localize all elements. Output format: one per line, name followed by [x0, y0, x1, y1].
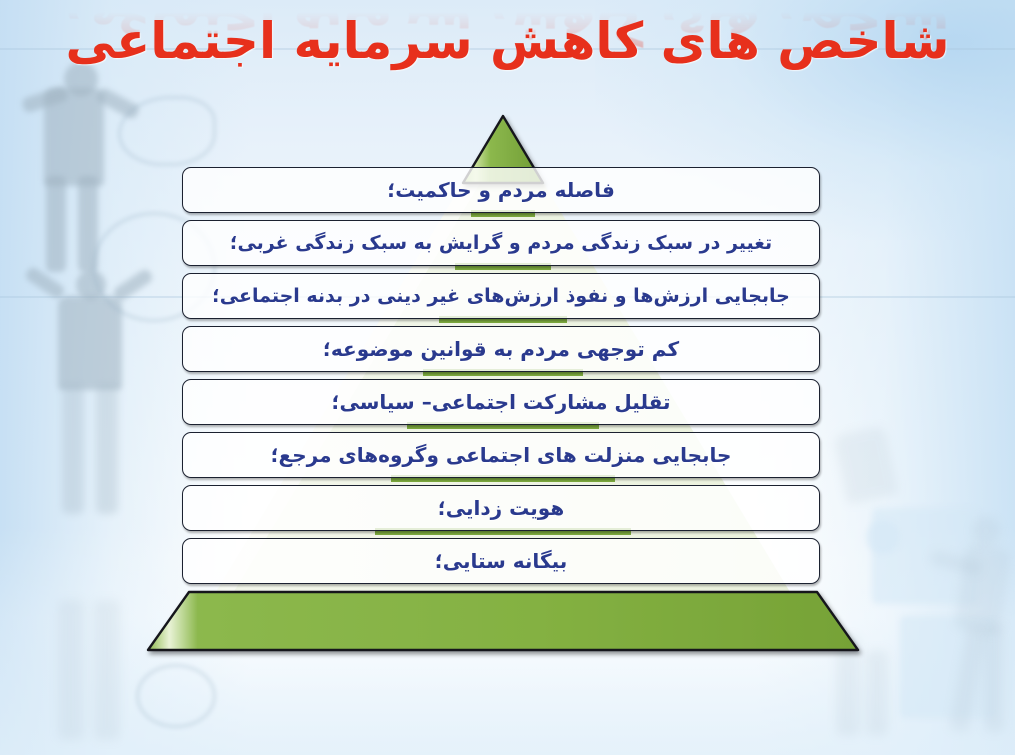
pyramid-base [148, 592, 858, 650]
pyramid-level-row[interactable]: تغییر در سبک زندگی مردم و گرایش به سبک ز… [182, 220, 820, 266]
pyramid-level-label: بیگانه ستایی؛ [425, 549, 578, 573]
pyramid-level-label: تقلیل مشارکت اجتماعی– سیاسی؛ [321, 390, 680, 414]
pyramid-level-row[interactable]: جابجایی منزلت های اجتماعی وگروه‌های مرجع… [182, 432, 820, 478]
pyramid-level-row[interactable]: جابجایی ارزش‌ها و نفوذ ارزش‌های غیر دینی… [182, 273, 820, 319]
pyramid-level-row[interactable]: هویت زدایی؛ [182, 485, 820, 531]
pyramid-level-label: فاصله مردم و حاکمیت؛ [377, 178, 625, 202]
pyramid-level-label: کم توجهی مردم به قوانین موضوعه؛ [313, 337, 689, 361]
pyramid-level-row[interactable]: تقلیل مشارکت اجتماعی– سیاسی؛ [182, 379, 820, 425]
pyramid-level-row[interactable]: بیگانه ستایی؛ [182, 538, 820, 584]
pyramid-level-label: جابجایی ارزش‌ها و نفوذ ارزش‌های غیر دینی… [202, 285, 800, 307]
pyramid-level-row[interactable]: فاصله مردم و حاکمیت؛ [182, 167, 820, 213]
pyramid-levels-list: فاصله مردم و حاکمیت؛ تغییر در سبک زندگی … [182, 167, 820, 584]
pyramid-level-row[interactable]: کم توجهی مردم به قوانین موضوعه؛ [182, 326, 820, 372]
pyramid-level-label: جابجایی منزلت های اجتماعی وگروه‌های مرجع… [261, 443, 742, 467]
presentation-slide: شاخص های کاهش سرمایه اجتماعی شاخص های کا… [0, 0, 1015, 755]
pyramid-level-label: تغییر در سبک زندگی مردم و گرایش به سبک ز… [220, 232, 782, 254]
pyramid-level-label: هویت زدایی؛ [428, 496, 574, 520]
